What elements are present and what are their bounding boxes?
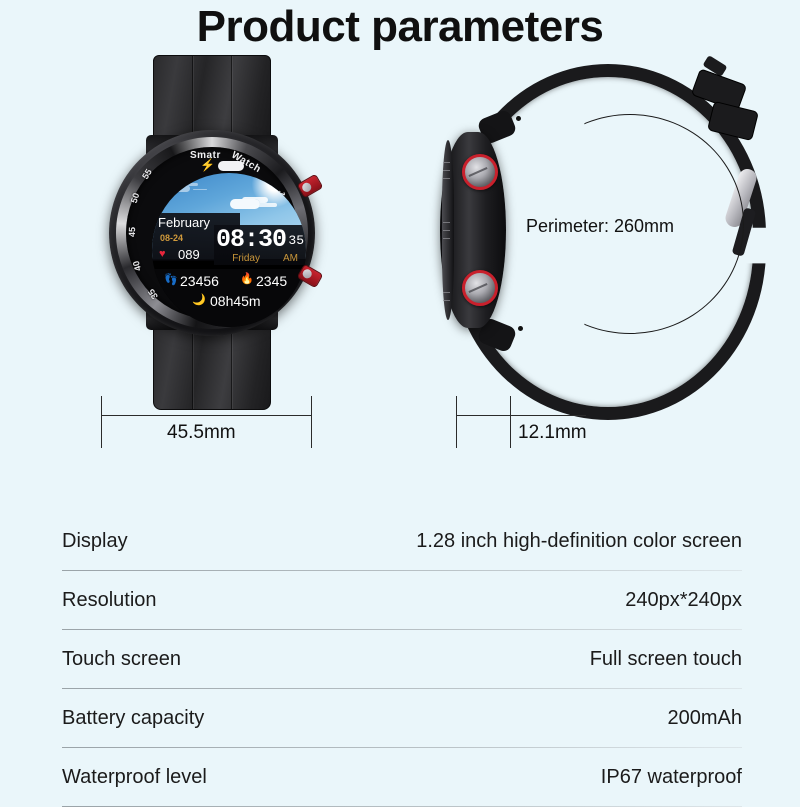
bezel-inner-ring: Smatr Watch 55 50 45 40 35 30 25 20 15 1… — [126, 147, 298, 319]
watchface-weekday: Friday — [232, 253, 260, 264]
side-watch-image: Perimeter: 260mm — [432, 58, 782, 403]
footsteps-icon: 👣 — [164, 275, 178, 286]
bezel-number-40: 40 — [131, 259, 143, 271]
bezel-number-50: 50 — [129, 191, 142, 204]
table-row: Display 1.28 inch high-definition color … — [62, 512, 742, 571]
dim-tick-right-12 — [510, 396, 511, 448]
spec-key: Display — [62, 530, 128, 553]
table-row: Waterproof level IP67 waterproof — [62, 748, 742, 807]
dim-tick-left-12 — [456, 396, 457, 448]
dimension-label-width: 45.5mm — [167, 422, 236, 444]
watchface-calories: 2345 — [256, 273, 287, 289]
dim-line-12 — [456, 415, 586, 416]
side-crown-button-bottom[interactable] — [462, 270, 498, 306]
perimeter-label: Perimeter: 260mm — [526, 216, 674, 237]
crown-cap — [301, 267, 313, 279]
perimeter-arc-dot — [516, 116, 521, 121]
case-grill-line — [443, 162, 450, 163]
dim-tick-left-45 — [101, 396, 102, 448]
watchface-month: February — [158, 215, 210, 230]
perimeter-arc-dot — [518, 326, 523, 331]
table-row: Resolution 240px*240px — [62, 571, 742, 630]
heart-icon: ♥ — [159, 249, 166, 260]
spec-key: Touch screen — [62, 648, 181, 671]
watchface-heart-rate: 089 — [178, 247, 200, 262]
cloud-icon — [230, 199, 260, 209]
dim-tick-right-45 — [311, 396, 312, 448]
case-grill-line — [443, 238, 450, 239]
spec-value: 240px*240px — [625, 589, 742, 612]
moon-icon: 🌙 — [192, 295, 206, 306]
front-watch-image: Smatr Watch 55 50 45 40 35 30 25 20 15 1… — [92, 55, 332, 410]
crown-cap — [301, 181, 313, 193]
spec-value: 200mAh — [668, 707, 743, 730]
watchface-date: 08-24 — [160, 233, 183, 243]
speaker-slot-icon — [218, 161, 244, 171]
watchface-time: 08:30 — [216, 225, 286, 254]
watch-screen[interactable]: February 08-24 ♥ 089 08:30 35 Friday AM … — [152, 173, 306, 327]
dim-line-45 — [101, 415, 312, 416]
table-row: Touch screen Full screen touch — [62, 630, 742, 689]
spec-value: 1.28 inch high-definition color screen — [416, 530, 742, 553]
lightning-bolt-icon: ⚡ — [200, 159, 215, 171]
flame-icon: 🔥 — [240, 274, 254, 285]
side-crown-button-top[interactable] — [462, 154, 498, 190]
watchface-sleep: 08h45m — [210, 293, 261, 309]
specification-table: Display 1.28 inch high-definition color … — [62, 512, 742, 807]
case-grill-line — [443, 292, 450, 293]
case-grill-line — [443, 178, 450, 179]
case-grill-line — [443, 222, 450, 223]
crown-slot — [468, 167, 487, 177]
spec-key: Battery capacity — [62, 707, 204, 730]
spec-value: Full screen touch — [590, 648, 742, 671]
watch-case: Smatr Watch 55 50 45 40 35 30 25 20 15 1… — [109, 130, 315, 336]
spec-value: IP67 waterproof — [601, 766, 742, 789]
watch-case-side — [440, 132, 506, 328]
watchface-meridiem: AM — [283, 253, 298, 264]
page-title: Product parameters — [0, 2, 800, 52]
spec-key: Waterproof level — [62, 766, 207, 789]
dimension-label-thickness: 12.1mm — [518, 422, 587, 444]
case-grill-line — [443, 170, 450, 171]
spec-key: Resolution — [62, 589, 157, 612]
watchface-seconds: 35 — [288, 233, 304, 248]
case-grill-line — [443, 300, 450, 301]
case-grill-line — [443, 230, 450, 231]
crown-slot — [468, 283, 487, 293]
bezel-number-45: 45 — [127, 226, 137, 236]
watchface-steps: 23456 — [180, 273, 219, 289]
table-row: Battery capacity 200mAh — [62, 689, 742, 748]
cloud-icon — [170, 185, 190, 192]
